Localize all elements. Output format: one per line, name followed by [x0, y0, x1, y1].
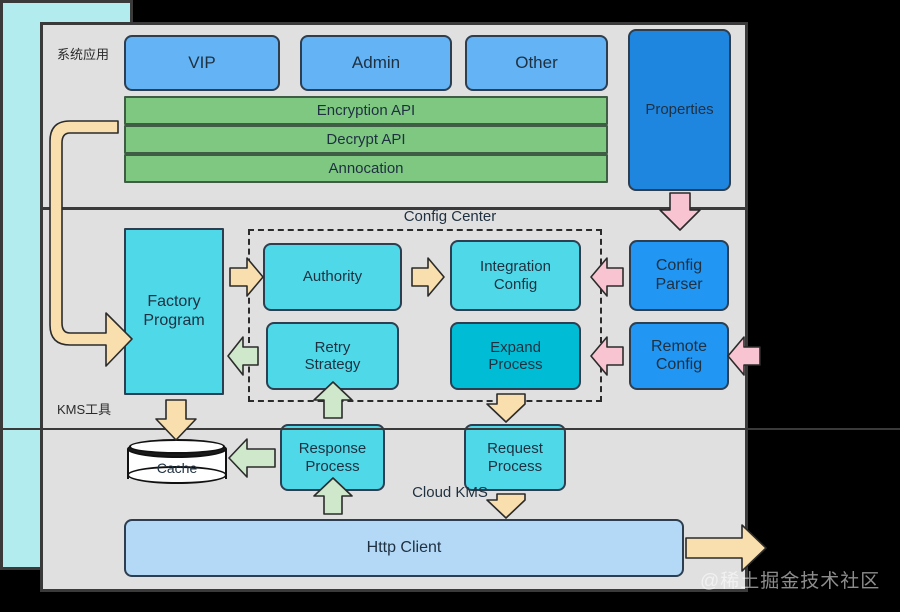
diagram-canvas: 系统应用 KMS工具 VIP Admin Other Encryption AP… [0, 0, 900, 612]
external-services-column: Config Center Cloud KMS [0, 0, 133, 570]
cloud-kms-label: Cloud KMS [0, 484, 900, 501]
watermark: @稀土掘金技术社区 [700, 566, 880, 593]
config-center-label: Config Center [0, 208, 900, 225]
config-center-box[interactable]: Config Center [0, 0, 900, 430]
cloud-kms-box[interactable]: Cloud KMS [0, 430, 900, 564]
